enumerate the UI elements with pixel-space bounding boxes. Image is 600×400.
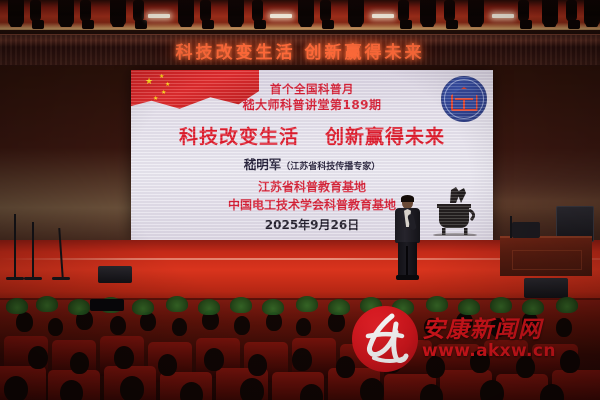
watermark: 安康新闻网 www.akxw.cn (352, 300, 596, 378)
lighting-truss (0, 0, 600, 30)
equipment-table (500, 236, 592, 276)
watermark-site-name: 安康新闻网 (422, 318, 556, 342)
ceiling (0, 0, 600, 34)
akxw-logo-icon (352, 306, 418, 372)
projection-screen: ★ ★ ★ ★ ★ 首个全国科普月 嵇大师科普讲堂第189期 科技改变生活创新赢… (131, 70, 493, 240)
slide-header-line1: 首个全国科普月 (131, 81, 493, 97)
watermark-url: www.akxw.cn (422, 342, 556, 361)
led-banner-text: 科技改变生活 创新赢得未来 (176, 38, 425, 63)
bronze-ritual-vessel-icon (427, 186, 483, 236)
microphone-stand-base (6, 277, 24, 280)
microphone-stand (32, 222, 34, 278)
presenter-hair (401, 195, 414, 202)
led-banner: 科技改变生活 创新赢得未来 (0, 34, 600, 66)
slide-speaker-title: （江苏省科技传播专家） (281, 162, 380, 172)
table-equipment (512, 222, 540, 238)
slide-speaker-line: 嵇明军（江苏省科技传播专家） (131, 154, 493, 173)
slide-main-title: 科技改变生活创新赢得未来 (131, 122, 493, 149)
stage-monitor-speaker (524, 278, 568, 298)
slide-header-line2: 嵇大师科普讲堂第189期 (131, 96, 493, 113)
slide-title-part2: 创新赢得未来 (325, 126, 445, 148)
stage-monitor-speaker (98, 266, 132, 283)
presenter-shoes (396, 275, 419, 280)
wall-mounted-monitor (90, 299, 124, 311)
wall-panel-left (0, 66, 134, 248)
presenter-trousers (398, 242, 417, 276)
table-microphone (510, 216, 512, 238)
microphone-stand-base (52, 277, 70, 280)
microphone-stand-base (24, 277, 42, 280)
microphone-stand (14, 214, 16, 278)
slide-speaker-name: 嵇明军 (244, 157, 282, 172)
presenter (392, 196, 422, 280)
slide-title-part1: 科技改变生活 (179, 126, 299, 148)
auditorium-photo: 科技改变生活 创新赢得未来 ★ ★ ★ ★ ★ 首个全国科普月 嵇大师科普讲堂第… (0, 0, 600, 400)
